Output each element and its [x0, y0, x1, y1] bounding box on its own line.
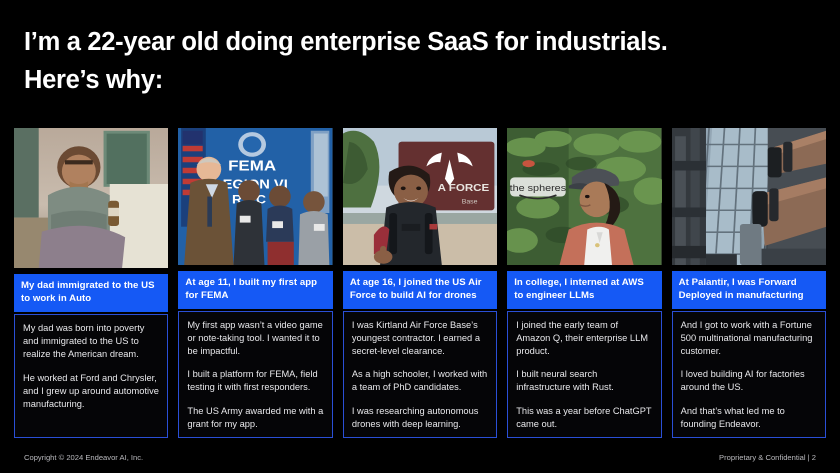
- card-paragraph: I built neural search infrastructure wit…: [516, 368, 653, 394]
- card-heading: At age 11, I built my first app for FEMA: [178, 271, 332, 308]
- card-body: My dad was born into poverty and immigra…: [14, 314, 168, 438]
- card-paragraph: And that’s what led me to founding Endea…: [681, 405, 818, 431]
- timeline-column: FEMA EGION VI R CC: [178, 128, 332, 438]
- card-heading: At Palantir, I was Forward Deployed in m…: [672, 271, 826, 308]
- card-body: I joined the early team of Amazon Q, the…: [507, 311, 661, 438]
- card-paragraph: This was a year before ChatGPT came out.: [516, 405, 653, 431]
- slide-footer: Copyright © 2024 Endeavor AI, Inc. Propr…: [0, 451, 840, 465]
- card-paragraph: I joined the early team of Amazon Q, the…: [516, 319, 653, 359]
- card-heading: In college, I interned at AWS to enginee…: [507, 271, 661, 308]
- svg-text:A FORCE: A FORCE: [437, 183, 489, 194]
- timeline-column: the spheres: [507, 128, 661, 438]
- timeline-columns: My dad immigrated to the US to work in A…: [14, 128, 826, 438]
- card-heading: My dad immigrated to the US to work in A…: [14, 274, 168, 312]
- card-paragraph: He worked at Ford and Chrysler, and I gr…: [23, 372, 160, 412]
- svg-text:the spheres: the spheres: [510, 184, 566, 194]
- card-body: I was Kirtland Air Force Base’s youngest…: [343, 311, 497, 438]
- card-paragraph: I was Kirtland Air Force Base’s youngest…: [352, 319, 489, 359]
- photo-fema-region-vi-award: FEMA EGION VI R CC: [178, 128, 332, 265]
- photo-industrial-plant-piping: [672, 128, 826, 265]
- card-paragraph: As a high schooler, I worked with a team…: [352, 368, 489, 394]
- footer-classification: Proprietary & Confidential | 2: [719, 451, 816, 465]
- card-heading: At age 16, I joined the US Air Force to …: [343, 271, 497, 308]
- title-line-secondary: Here’s why:: [24, 64, 824, 96]
- timeline-column: A FORCE Base: [343, 128, 497, 438]
- card-paragraph: I built a platform for FEMA, field testi…: [187, 368, 324, 394]
- card-paragraph: My first app wasn’t a video game or note…: [187, 319, 324, 359]
- timeline-column: My dad immigrated to the US to work in A…: [14, 128, 168, 438]
- card-paragraph: And I got to work with a Fortune 500 mul…: [681, 319, 818, 359]
- photo-amazon-spheres: the spheres: [507, 128, 661, 265]
- svg-text:Base: Base: [462, 199, 478, 206]
- card-paragraph: My dad was born into poverty and immigra…: [23, 322, 160, 362]
- card-paragraph: The US Army awarded me with a grant for …: [187, 405, 324, 431]
- slide-root: I’m a 22-year old doing enterprise SaaS …: [0, 0, 840, 473]
- card-body: And I got to work with a Fortune 500 mul…: [672, 311, 826, 438]
- footer-copyright: Copyright © 2024 Endeavor AI, Inc.: [24, 451, 143, 465]
- timeline-column: At Palantir, I was Forward Deployed in m…: [672, 128, 826, 438]
- title-line-primary: I’m a 22-year old doing enterprise SaaS …: [24, 26, 824, 58]
- photo-father-seated-vintage: [14, 128, 168, 268]
- page-title: I’m a 22-year old doing enterprise SaaS …: [24, 26, 824, 96]
- card-body: My first app wasn’t a video game or note…: [178, 311, 332, 438]
- svg-text:FEMA: FEMA: [228, 157, 277, 174]
- card-paragraph: I was researching autonomous drones with…: [352, 405, 489, 431]
- card-paragraph: I loved building AI for factories around…: [681, 368, 818, 394]
- photo-air-force-base-sign: A FORCE Base: [343, 128, 497, 265]
